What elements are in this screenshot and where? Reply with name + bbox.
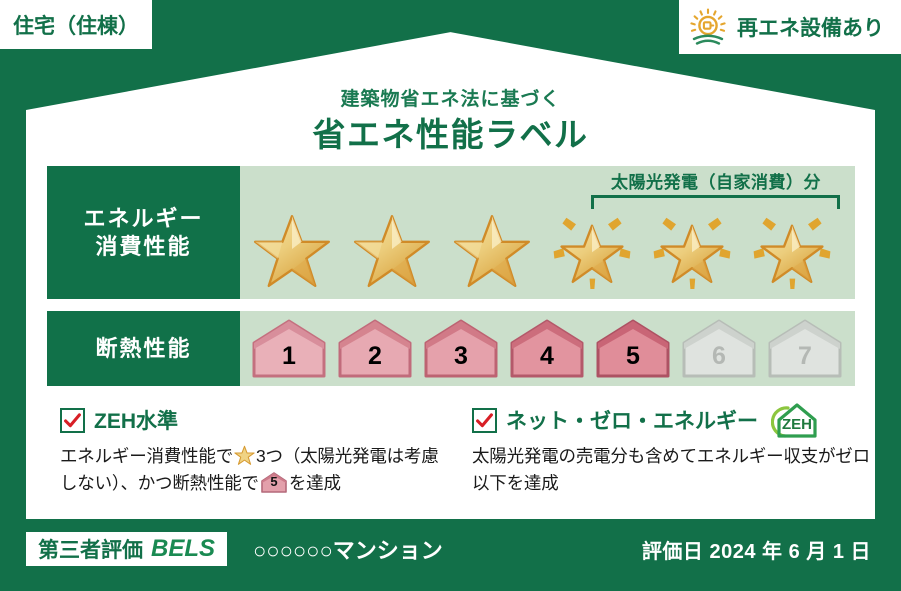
check-nze-title: ネット・ゼロ・エネルギー — [506, 405, 758, 435]
bels-badge: 第三者評価 BELS — [26, 532, 227, 566]
star-icon — [252, 213, 332, 293]
building-name: ○○○○○○マンション — [253, 533, 443, 565]
star-solar-icon — [652, 213, 732, 293]
check-zeh-title: ZEH水準 — [94, 405, 178, 435]
page-title: 省エネ性能ラベル — [0, 108, 901, 156]
bels-en-label: BELS — [151, 535, 215, 563]
star-icon — [452, 213, 532, 293]
insulation-badge-group: 1 2 3 — [240, 311, 855, 386]
bels-jp-label: 第三者評価 — [38, 534, 143, 564]
row-insulation-panel: 1 2 3 — [240, 311, 855, 386]
check-nze-header: ネット・ゼロ・エネルギー ZEH — [472, 406, 872, 434]
insulation-badge: 3 — [424, 319, 498, 378]
insulation-badge: 2 — [338, 319, 412, 378]
checkmark-icon — [472, 408, 497, 433]
row-energy-label-line2: 消費性能 — [95, 233, 191, 261]
insulation-badge-number: 4 — [540, 342, 554, 371]
badge-dwelling-type: 住宅（住棟） — [0, 0, 152, 49]
star-solar-icon — [752, 213, 832, 293]
insulation-badge-inactive: 6 — [682, 319, 756, 378]
zeh-house-logo-icon: ZEH — [771, 400, 823, 440]
solar-bracket-caption: 太陽光発電（自家消費）分 — [556, 168, 876, 193]
svg-text:ZEH: ZEH — [782, 416, 812, 433]
check-net-zero-energy: ネット・ゼロ・エネルギー ZEH 太陽光発電の売電分も含めてエネルギー収支がゼロ… — [472, 406, 872, 497]
check-zeh-desc-part3: を達成 — [289, 473, 341, 493]
insulation-badge-inactive: 7 — [768, 319, 842, 378]
star-solar-icon — [552, 213, 632, 293]
insulation-badge: 4 — [510, 319, 584, 378]
insulation-badge-inline: 5 — [261, 472, 287, 493]
row-insulation-label-text: 断熱性能 — [95, 335, 191, 363]
insulation-badge-number: 1 — [282, 342, 296, 371]
row-insulation-performance: 断熱性能 1 2 — [47, 311, 855, 386]
evaluation-date: 評価日 2024 年 6 月 1 日 — [642, 535, 871, 564]
footer-bar: 第三者評価 BELS ○○○○○○マンション 評価日 2024 年 6 月 1 … — [0, 519, 901, 591]
check-zeh-desc-part1: エネルギー消費性能で — [60, 446, 233, 466]
checkmark-icon — [60, 408, 85, 433]
check-zeh-standard: ZEH水準 エネルギー消費性能で 3つ（太陽光発電は考慮しない）、かつ断熱性能で… — [60, 406, 450, 497]
insulation-badge-number: 2 — [368, 342, 382, 371]
star-icon — [352, 213, 432, 293]
badge-renewable-equipment: 再エネ設備あり — [679, 0, 901, 54]
solar-sun-plug-icon — [687, 8, 729, 46]
insulation-badge-inline-number: 5 — [261, 472, 287, 493]
check-zeh-description: エネルギー消費性能で 3つ（太陽光発電は考慮しない）、かつ断熱性能で 5 を達成 — [60, 443, 450, 497]
badge-dwelling-label: 住宅（住棟） — [13, 10, 139, 40]
insulation-badge-number: 7 — [798, 342, 812, 371]
label-subtitle: 建築物省エネ法に基づく — [0, 84, 901, 111]
check-nze-description: 太陽光発電の売電分も含めてエネルギー収支がゼロ以下を達成 — [472, 443, 872, 497]
badge-renewable-label: 再エネ設備あり — [737, 12, 884, 42]
row-energy-label: エネルギー 消費性能 — [47, 166, 240, 299]
insulation-badge: 1 — [252, 319, 326, 378]
row-energy-performance: エネルギー 消費性能 太陽光発電（自家消費）分 — [47, 166, 855, 299]
star-icon — [234, 445, 255, 466]
energy-performance-label: 住宅（住棟） — [0, 0, 901, 591]
star-rating-group — [240, 207, 855, 293]
row-energy-label-line1: エネルギー — [83, 205, 203, 233]
insulation-badge-number: 3 — [454, 342, 468, 371]
insulation-badge: 5 — [596, 319, 670, 378]
row-energy-panel: 太陽光発電（自家消費）分 — [240, 166, 855, 299]
insulation-badge-number: 5 — [626, 342, 640, 371]
row-insulation-label: 断熱性能 — [47, 311, 240, 386]
insulation-badge-number: 6 — [712, 342, 726, 371]
check-zeh-header: ZEH水準 — [60, 406, 450, 434]
